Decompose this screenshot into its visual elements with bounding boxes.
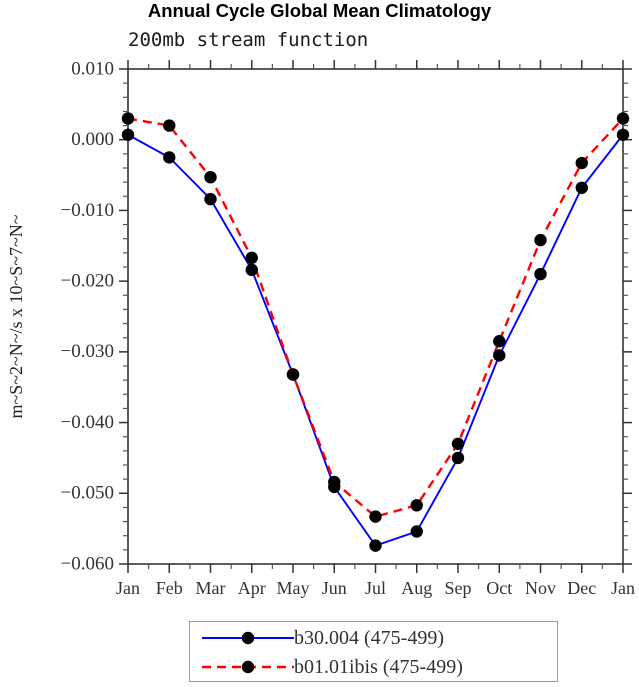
data-point-marker bbox=[576, 157, 588, 169]
y-tick-label: 0.010 bbox=[71, 58, 114, 79]
x-tick-label: Nov bbox=[525, 578, 556, 598]
x-tick-label: Jan bbox=[611, 578, 635, 598]
x-tick-label: Apr bbox=[238, 578, 266, 598]
plot-frame bbox=[128, 69, 623, 564]
y-tick-label: −0.020 bbox=[61, 271, 114, 292]
y-tick-label: 0.000 bbox=[71, 129, 114, 150]
data-point-marker bbox=[617, 129, 629, 141]
series-group bbox=[122, 112, 629, 552]
data-point-marker bbox=[617, 112, 629, 124]
legend-item-b01: b01.01ibis (475-499) bbox=[190, 652, 559, 682]
x-tick-label: Aug bbox=[401, 578, 432, 598]
data-point-marker bbox=[122, 129, 134, 141]
data-point-marker bbox=[452, 452, 464, 464]
legend-label-b01: b01.01ibis (475-499) bbox=[294, 656, 463, 679]
x-tick-label: Jun bbox=[322, 578, 347, 598]
data-point-marker bbox=[246, 252, 258, 264]
legend-item-b30: b30.004 (475-499) bbox=[190, 623, 559, 653]
x-tick-label: Feb bbox=[156, 578, 183, 598]
x-tick-label: May bbox=[277, 578, 310, 598]
data-point-marker bbox=[163, 119, 175, 131]
y-tick-label: −0.030 bbox=[61, 341, 114, 362]
x-tick-label: Oct bbox=[486, 578, 512, 598]
y-tick-label: −0.040 bbox=[61, 412, 114, 433]
data-point-marker bbox=[411, 525, 423, 537]
data-point-marker bbox=[369, 539, 381, 551]
y-axis-title-group: m~S~2~N~/s x 10~S~7~N~ bbox=[6, 214, 26, 418]
x-tick-label: Jan bbox=[116, 578, 140, 598]
data-point-marker bbox=[287, 368, 299, 380]
data-point-marker bbox=[493, 335, 505, 347]
y-tick-label: −0.010 bbox=[61, 200, 114, 221]
data-point-marker bbox=[534, 268, 546, 280]
data-point-marker bbox=[204, 193, 216, 205]
data-point-marker bbox=[534, 234, 546, 246]
data-point-marker bbox=[493, 349, 505, 361]
data-point-marker bbox=[369, 510, 381, 522]
x-tick-label: Sep bbox=[445, 578, 472, 598]
series-line bbox=[128, 135, 623, 546]
y-axis-title: m~S~2~N~/s x 10~S~7~N~ bbox=[6, 214, 26, 418]
x-tick-label: Jul bbox=[365, 578, 386, 598]
legend: b30.004 (475-499) b01.01ibis (475-499) bbox=[189, 621, 558, 682]
data-point-marker bbox=[411, 499, 423, 511]
y-tick-label: −0.060 bbox=[61, 553, 114, 574]
chart-container: Annual Cycle Global Mean Climatology 200… bbox=[0, 0, 639, 687]
data-point-marker bbox=[122, 112, 134, 124]
legend-swatch-dashed-red bbox=[200, 654, 296, 680]
data-point-marker bbox=[452, 438, 464, 450]
data-point-marker bbox=[246, 264, 258, 276]
data-point-marker bbox=[204, 171, 216, 183]
x-tick-label: Mar bbox=[196, 578, 226, 598]
plot-svg: 0.0100.000−0.010−0.020−0.030−0.040−0.050… bbox=[0, 0, 639, 687]
data-point-marker bbox=[163, 151, 175, 163]
legend-label-b30: b30.004 (475-499) bbox=[294, 627, 444, 650]
axes-group: 0.0100.000−0.010−0.020−0.030−0.040−0.050… bbox=[61, 58, 635, 598]
series-line bbox=[128, 119, 623, 517]
data-point-marker bbox=[576, 182, 588, 194]
y-tick-label: −0.050 bbox=[61, 483, 114, 504]
data-point-marker bbox=[328, 476, 340, 488]
legend-swatch-solid-blue bbox=[200, 625, 296, 651]
x-tick-label: Dec bbox=[567, 578, 596, 598]
